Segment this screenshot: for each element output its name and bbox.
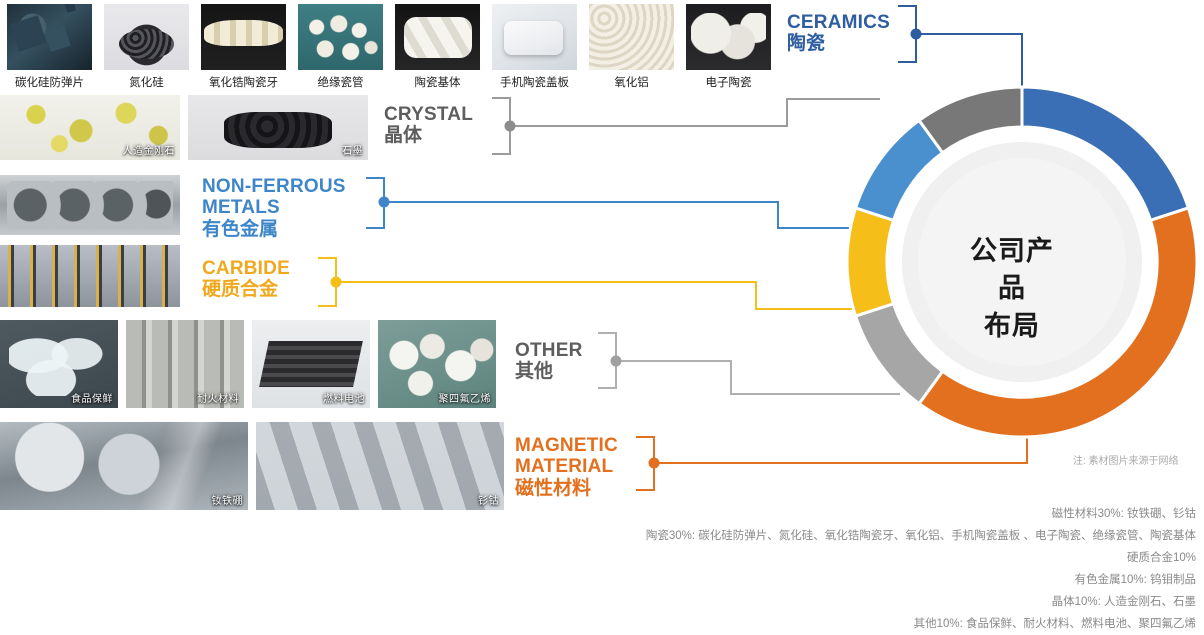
infographic-canvas: 公司产品 布局 碳化硅防弹片 氮化硅 氧化锆陶瓷牙 绝缘瓷管 陶瓷基体 手机陶瓷… bbox=[0, 0, 1204, 632]
label-cn: 晶体 bbox=[384, 125, 473, 146]
label-en-1: MAGNETIC bbox=[515, 435, 618, 456]
thumb-graphite[interactable]: 石墨 bbox=[188, 95, 368, 160]
thumb-refractory-material[interactable]: 耐火材料 bbox=[126, 320, 244, 408]
label-cn: 其他 bbox=[515, 361, 583, 382]
legend-item: 陶瓷30%: 碳化硅防弹片、氮化硅、氧化锆陶瓷牙、氧化铝、手机陶瓷盖板 、电子陶… bbox=[646, 525, 1196, 547]
category-label-other[interactable]: OTHER 其他 bbox=[515, 340, 583, 383]
legend-item: 有色金属10%: 钨钼制品 bbox=[646, 569, 1196, 591]
label-en: CRYSTAL bbox=[384, 104, 473, 125]
thumb-image bbox=[188, 95, 368, 160]
thumb-phone-ceramic-cover[interactable] bbox=[492, 4, 577, 70]
thumb-image bbox=[7, 4, 92, 70]
connector-crystal bbox=[492, 98, 880, 154]
label-cn: 有色金属 bbox=[202, 219, 346, 240]
thumb-image bbox=[395, 4, 480, 70]
center-line-1: 公司产品 bbox=[960, 233, 1064, 308]
donut-center-label: 公司产品 布局 bbox=[960, 233, 1064, 345]
thumb-caption: 氮化硅 bbox=[97, 74, 196, 90]
legend-list: 磁性材料30%: 钕铁硼、钐钴 陶瓷30%: 碳化硅防弹片、氮化硅、氧化锆陶瓷牙… bbox=[646, 503, 1196, 635]
label-en-2: METALS bbox=[202, 197, 346, 218]
thumb-carbide-silicon-plate[interactable] bbox=[7, 4, 92, 70]
thumb-image bbox=[686, 4, 771, 70]
thumb-image bbox=[492, 4, 577, 70]
center-line-2: 布局 bbox=[960, 308, 1064, 345]
thumb-silicon-nitride[interactable] bbox=[104, 4, 189, 70]
category-label-carbide[interactable]: CARBIDE 硬质合金 bbox=[202, 258, 290, 301]
thumb-image bbox=[589, 4, 674, 70]
legend-item: 晶体10%: 人造金刚石、石墨 bbox=[646, 591, 1196, 613]
label-en: OTHER bbox=[515, 340, 583, 361]
thumb-food-preservation[interactable]: 食品保鲜 bbox=[0, 320, 118, 408]
thumb-image bbox=[0, 175, 180, 235]
source-note: 注: 素材图片来源于网络 bbox=[1073, 452, 1179, 467]
connector-carbide bbox=[318, 258, 862, 309]
thumb-caption: 氧化锆陶瓷牙 bbox=[194, 74, 293, 90]
thumb-caption: 钕铁硼 bbox=[212, 492, 244, 507]
thumb-image bbox=[0, 245, 180, 307]
label-en: CERAMICS bbox=[787, 12, 890, 33]
category-label-crystal[interactable]: CRYSTAL 晶体 bbox=[384, 104, 473, 147]
thumb-caption: 食品保鲜 bbox=[71, 390, 113, 405]
thumb-electronic-ceramic[interactable] bbox=[686, 4, 771, 70]
thumb-insulating-tube[interactable] bbox=[298, 4, 383, 70]
thumb-ptfe[interactable]: 聚四氟乙烯 bbox=[378, 320, 496, 408]
label-cn: 硬质合金 bbox=[202, 279, 290, 300]
thumb-ceramic-substrate[interactable] bbox=[395, 4, 480, 70]
thumb-alumina[interactable] bbox=[589, 4, 674, 70]
thumb-caption: 燃料电池 bbox=[323, 390, 365, 405]
legend-item: 磁性材料30%: 钕铁硼、钐钴 bbox=[646, 503, 1196, 525]
thumb-caption: 电子陶瓷 bbox=[679, 74, 778, 90]
thumb-caption: 石墨 bbox=[342, 142, 363, 157]
label-cn: 陶瓷 bbox=[787, 33, 890, 54]
label-en-2: MATERIAL bbox=[515, 456, 618, 477]
thumb-zirconia-dental[interactable] bbox=[201, 4, 286, 70]
label-en-1: NON-FERROUS bbox=[202, 176, 346, 197]
thumb-caption: 绝缘瓷管 bbox=[291, 74, 390, 90]
thumb-carbide-drills[interactable] bbox=[0, 245, 180, 307]
category-label-nonferrous[interactable]: NON-FERROUS METALS 有色金属 bbox=[202, 176, 346, 240]
thumb-tungsten-molybdenum[interactable] bbox=[0, 175, 180, 235]
thumb-fuel-cell[interactable]: 燃料电池 bbox=[252, 320, 370, 408]
thumb-caption: 钐钴 bbox=[478, 492, 499, 507]
thumb-caption: 手机陶瓷盖板 bbox=[485, 74, 584, 90]
thumb-caption: 碳化硅防弹片 bbox=[0, 74, 99, 90]
thumb-ndfeb[interactable]: 钕铁硼 bbox=[0, 422, 248, 510]
donut-slice-carbide[interactable] bbox=[847, 208, 893, 316]
thumb-caption: 耐火材料 bbox=[197, 390, 239, 405]
thumb-image bbox=[298, 4, 383, 70]
thumb-caption: 陶瓷基体 bbox=[388, 74, 487, 90]
category-label-ceramics[interactable]: CERAMICS 陶瓷 bbox=[787, 12, 890, 55]
thumb-smco[interactable]: 钐钴 bbox=[256, 422, 504, 510]
thumb-caption: 氧化铝 bbox=[582, 74, 681, 90]
thumb-caption: 聚四氟乙烯 bbox=[439, 390, 492, 405]
label-en: CARBIDE bbox=[202, 258, 290, 279]
thumb-caption: 人造金刚石 bbox=[123, 142, 176, 157]
category-label-magnetic[interactable]: MAGNETIC MATERIAL 磁性材料 bbox=[515, 435, 618, 499]
label-cn: 磁性材料 bbox=[515, 478, 618, 499]
connector-nonferrous bbox=[366, 178, 860, 228]
legend-item: 硬质合金10% bbox=[646, 547, 1196, 569]
thumb-image bbox=[201, 4, 286, 70]
thumb-image bbox=[104, 4, 189, 70]
thumb-synthetic-diamond[interactable]: 人造金刚石 bbox=[0, 95, 180, 160]
thumb-image bbox=[256, 422, 504, 510]
donut-slice-crystal[interactable] bbox=[919, 87, 1022, 153]
